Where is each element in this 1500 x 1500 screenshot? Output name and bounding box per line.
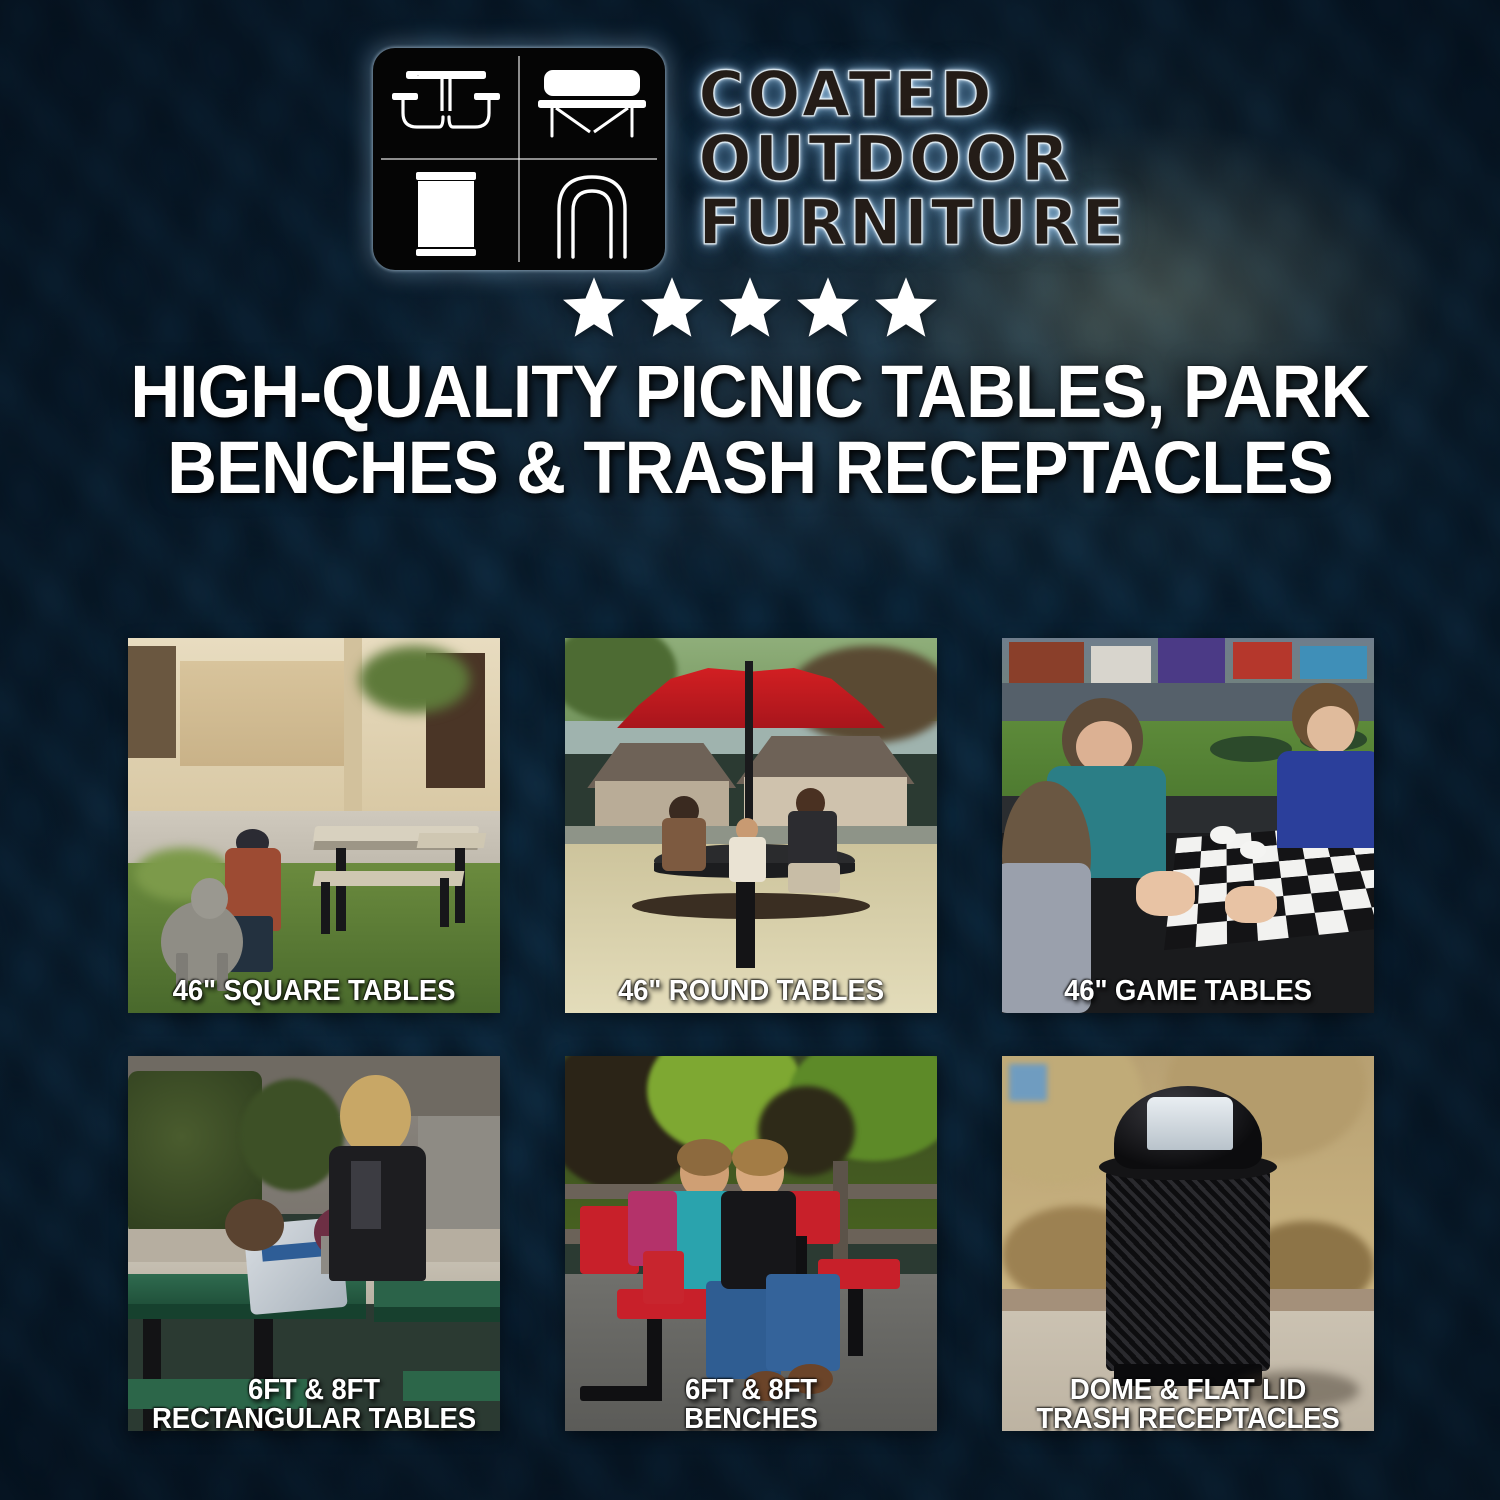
- star-icon: [563, 277, 625, 337]
- logo-icon-grid: [373, 48, 665, 270]
- park-bench-icon: [519, 48, 665, 159]
- star-icon: [797, 277, 859, 337]
- product-tile-trash-receptacles[interactable]: DOME & FLAT LID TRASH RECEPTACLES: [1002, 1056, 1374, 1431]
- caption-line-2: TRASH RECEPTACLES: [1011, 1405, 1364, 1431]
- round-tables-photo: [565, 638, 937, 1013]
- brand-line-1: COATED: [699, 64, 1128, 126]
- tile-caption: DOME & FLAT LID TRASH RECEPTACLES: [1011, 1376, 1364, 1431]
- headline-line-2: BENCHES & TRASH RECEPTACLES: [108, 430, 1391, 506]
- product-tile-square-tables[interactable]: 46" SQUARE TABLES: [128, 638, 500, 1013]
- tile-caption: 46" SQUARE TABLES: [137, 977, 490, 1007]
- product-tile-round-tables[interactable]: 46" ROUND TABLES: [565, 638, 937, 1013]
- bike-rack-icon: [519, 159, 665, 270]
- product-tile-rectangular-tables[interactable]: 6FT & 8FT RECTANGULAR TABLES: [128, 1056, 500, 1431]
- caption-line-1: 6FT & 8FT: [137, 1376, 490, 1406]
- star-rating: [0, 276, 1500, 338]
- star-icon: [719, 277, 781, 337]
- page-title: HIGH-QUALITY PICNIC TABLES, PARK BENCHES…: [53, 354, 1448, 506]
- caption-line-1: 6FT & 8FT: [574, 1376, 927, 1406]
- product-tile-game-tables[interactable]: 46" GAME TABLES: [1002, 638, 1374, 1013]
- star-icon: [641, 277, 703, 337]
- tile-caption: 6FT & 8FT BENCHES: [574, 1376, 927, 1431]
- square-tables-photo: [128, 638, 500, 1013]
- caption-line-2: RECTANGULAR TABLES: [137, 1405, 490, 1431]
- tile-caption: 46" GAME TABLES: [1011, 977, 1364, 1007]
- caption-line-1: DOME & FLAT LID: [1011, 1376, 1364, 1406]
- promotional-banner: COATED OUTDOOR FURNITURE HIGH-QUALITY PI…: [0, 0, 1500, 1500]
- caption-line-1: 46" SQUARE TABLES: [137, 977, 490, 1007]
- brand-wordmark: COATED OUTDOOR FURNITURE: [699, 64, 1128, 254]
- caption-line-2: BENCHES: [574, 1405, 927, 1431]
- picnic-table-icon: [373, 48, 519, 159]
- tile-caption: 46" ROUND TABLES: [574, 977, 927, 1007]
- trash-receptacle-icon: [373, 159, 519, 270]
- tile-caption: 6FT & 8FT RECTANGULAR TABLES: [137, 1376, 490, 1431]
- brand-line-3: FURNITURE: [699, 192, 1128, 254]
- game-tables-photo: [1002, 638, 1374, 1013]
- product-tile-benches[interactable]: 6FT & 8FT BENCHES: [565, 1056, 937, 1431]
- caption-line-1: 46" GAME TABLES: [1011, 977, 1364, 1007]
- brand-line-2: OUTDOOR: [699, 128, 1128, 190]
- star-icon: [875, 277, 937, 337]
- headline-line-1: HIGH-QUALITY PICNIC TABLES, PARK: [108, 354, 1391, 430]
- caption-line-1: 46" ROUND TABLES: [574, 977, 927, 1007]
- product-grid: 46" SQUARE TABLES: [128, 638, 1374, 1431]
- brand-logo[interactable]: COATED OUTDOOR FURNITURE: [0, 0, 1500, 250]
